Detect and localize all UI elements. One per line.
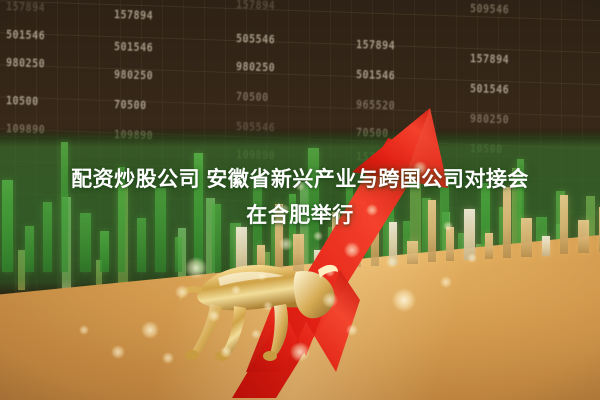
ticker-number: 980250 (6, 57, 46, 71)
chart-bar-gold (560, 195, 568, 254)
chart-bar-gold (275, 204, 283, 272)
ticker-number: 157894 (114, 9, 154, 23)
ticker-number: 70500 (236, 91, 269, 105)
chart-bar-green (2, 180, 13, 272)
chart-bar-green (80, 213, 91, 272)
ticker-number: 501546 (114, 41, 154, 55)
chart-bar-gold (485, 233, 493, 259)
chart-bar-green (137, 218, 146, 272)
chart-bar-gold (257, 245, 265, 273)
chart-bar-gold (428, 200, 436, 262)
ticker-number: 157894 (470, 53, 510, 67)
chart-bar-gold (332, 212, 340, 268)
chart-bar-green (61, 142, 68, 272)
chart-bar-gold (407, 241, 418, 264)
news-cover-image: 1578945015469802501050010989015789450154… (0, 0, 600, 400)
ticker-number: 980250 (236, 61, 276, 75)
ticker-number: 10500 (470, 143, 503, 157)
chart-bar-green (194, 153, 203, 272)
ticker-number: 505546 (236, 33, 276, 47)
ticker-number: 980250 (114, 69, 154, 83)
chart-bar-green (100, 231, 109, 272)
ticker-number: 70500 (356, 127, 389, 141)
chart-bar-green (212, 204, 221, 272)
chart-bar-gold (542, 236, 550, 256)
ticker-number: 109890 (114, 129, 154, 143)
chart-bar-green (118, 167, 125, 272)
ticker-number: 157894 (356, 39, 396, 53)
ticker-number: 501546 (470, 83, 510, 97)
chart-bar-gold (521, 218, 532, 257)
chart-bar-gold (350, 236, 361, 267)
chart-bar-green (43, 202, 52, 272)
chart-bar-gold (503, 187, 511, 258)
ticker-number: 70500 (114, 99, 147, 113)
chart-bar-gold (314, 250, 322, 269)
ticker-number: 157894 (236, 0, 276, 13)
ticker-number: 109890 (6, 123, 46, 137)
ticker-number: 109890 (236, 149, 276, 163)
chart-bar-gold (464, 209, 475, 260)
chart-bar-green (25, 226, 34, 272)
chart-bar-gold (293, 234, 304, 271)
ticker-number: 980250 (470, 113, 510, 127)
chart-bar-gold (236, 227, 247, 274)
chart-bar-gold (578, 220, 589, 253)
chart-bar-green (175, 237, 182, 272)
chart-bar-gold (446, 227, 454, 261)
chart-bar-gold (371, 188, 379, 266)
ticker-number: 157894 (6, 1, 46, 15)
ticker-number: 501546 (356, 69, 396, 83)
chart-bar-green (155, 188, 166, 272)
ticker-number: 505546 (236, 121, 276, 135)
chart-bar-gold (389, 222, 397, 265)
ticker-number: 509546 (470, 3, 510, 17)
ticker-number: 501546 (6, 29, 46, 43)
chart-bar-cream (18, 250, 25, 290)
ticker-number: 965520 (356, 99, 396, 113)
ticker-number: 10500 (6, 95, 39, 109)
